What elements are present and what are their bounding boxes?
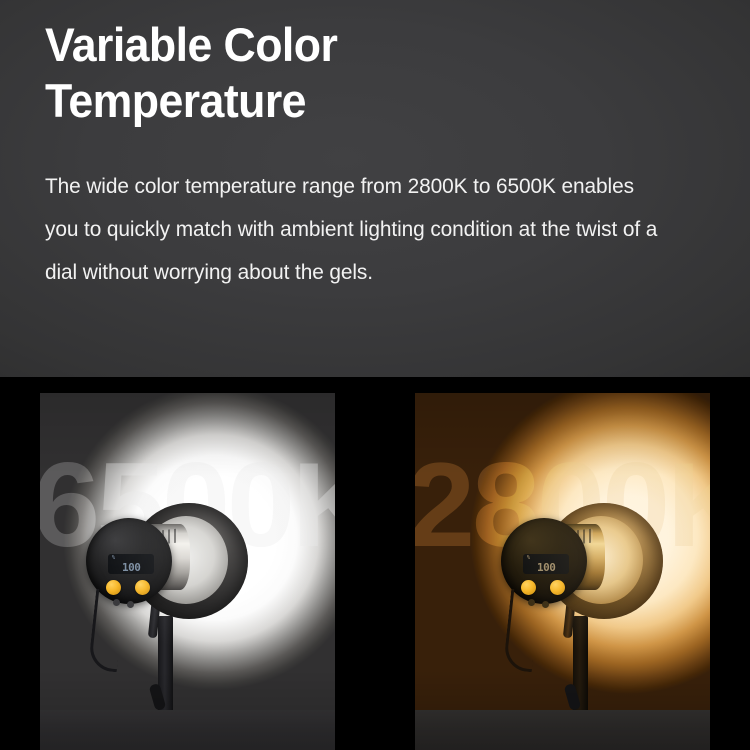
color-temperature-knob (550, 580, 565, 595)
hero-section: Variable Color Temperature The wide colo… (0, 0, 750, 377)
lcd-value: 100 (122, 561, 140, 574)
photo-panel-6500k: 6500K 6500K % 100 (40, 393, 335, 750)
comparison-photo-strip: 6500K 6500K % 100 (0, 377, 750, 750)
light-lcd-display: % 100 (108, 554, 154, 574)
lcd-value: 100 (537, 561, 555, 574)
product-feature-page: Variable Color Temperature The wide colo… (0, 0, 750, 750)
hero-text-block: Variable Color Temperature The wide colo… (45, 0, 705, 294)
power-cable (88, 589, 125, 673)
light-lcd-display: % 100 (523, 554, 569, 574)
hero-description: The wide color temperature range from 28… (45, 129, 666, 294)
power-button (542, 601, 549, 608)
power-cable (503, 589, 540, 673)
lcd-unit-label: % (112, 555, 116, 561)
photo-panel-2800k: 2800K 2800K % 100 (415, 393, 710, 750)
studio-floor-cool (40, 710, 335, 750)
lcd-unit-label: % (527, 555, 531, 561)
power-button (127, 601, 134, 608)
color-temperature-knob (135, 580, 150, 595)
page-title: Variable Color Temperature (45, 0, 672, 129)
studio-floor-warm (415, 710, 710, 750)
